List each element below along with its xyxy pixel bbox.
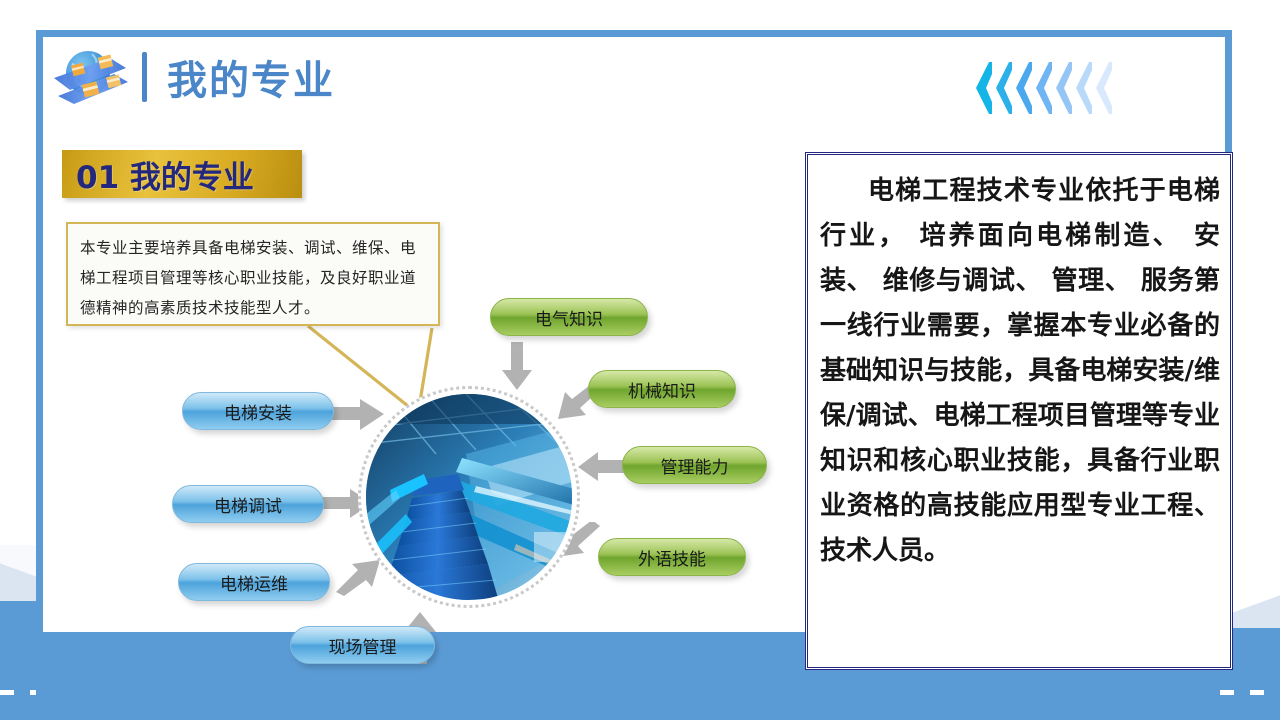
pill-label: 电梯调试	[214, 492, 282, 517]
pill-label: 现场管理	[329, 633, 397, 658]
decor-dashes-left	[0, 690, 36, 695]
slide-header: 我的专业	[52, 42, 335, 112]
diagram-pill-电梯运维[interactable]: 电梯运维	[178, 563, 330, 601]
pill-label: 机械知识	[628, 377, 696, 402]
decor-wedge-pale-right	[1228, 592, 1280, 628]
decor-wedge-pale-left	[0, 545, 36, 601]
pill-label: 电气知识	[535, 305, 603, 330]
diagram-pill-电梯调试[interactable]: 电梯调试	[172, 485, 324, 523]
arrow-to-center-from-电梯安装	[330, 398, 386, 432]
title-divider	[142, 52, 147, 102]
callout-text: 本专业主要培养具备电梯安装、调试、维保、电梯工程项目管理等核心职业技能，及良好职…	[80, 233, 428, 323]
slide-canvas: 我的专业 01 我的专业 本专业主要培养具备电梯安装、调试、维保、电梯工程项目管…	[0, 0, 1280, 720]
page-title: 我的专业	[167, 48, 335, 106]
diagram-pill-电梯安装[interactable]: 电梯安装	[182, 392, 334, 430]
diagram-pill-外语技能[interactable]: 外语技能	[598, 538, 746, 576]
pill-label: 电梯运维	[220, 570, 288, 595]
decor-dashes-right	[1220, 690, 1280, 695]
description-panel: 电梯工程技术专业依托于电梯行业， 培养面向电梯制造、 安装、 维修与调试、 管理…	[805, 152, 1233, 670]
decor-wedge-right	[1228, 0, 1280, 620]
diagram-pill-机械知识[interactable]: 机械知识	[588, 370, 736, 408]
escalator-photo	[366, 394, 572, 600]
center-circle	[358, 386, 580, 608]
diagram-pill-管理能力[interactable]: 管理能力	[622, 446, 767, 484]
diagram-pill-现场管理[interactable]: 现场管理	[290, 626, 435, 664]
decor-wedge-left	[0, 0, 36, 600]
pill-label: 电梯安装	[224, 399, 292, 424]
section-banner: 01 我的专业	[62, 150, 302, 198]
pill-label: 外语技能	[638, 545, 706, 570]
arrow-to-center-from-电气知识	[500, 342, 534, 390]
chevron-decoration	[975, 62, 1115, 114]
callout-box: 本专业主要培养具备电梯安装、调试、维保、电梯工程项目管理等核心职业技能，及良好职…	[66, 222, 440, 326]
pill-label: 管理能力	[661, 453, 729, 478]
description-paragraph: 电梯工程技术专业依托于电梯行业， 培养面向电梯制造、 安装、 维修与调试、 管理…	[820, 169, 1220, 574]
arrow-to-center-from-管理能力	[578, 452, 626, 482]
globe-parcel-logo	[52, 42, 128, 112]
section-banner-label: 01 我的专业	[62, 152, 254, 197]
diagram-pill-电气知识[interactable]: 电气知识	[490, 298, 648, 336]
